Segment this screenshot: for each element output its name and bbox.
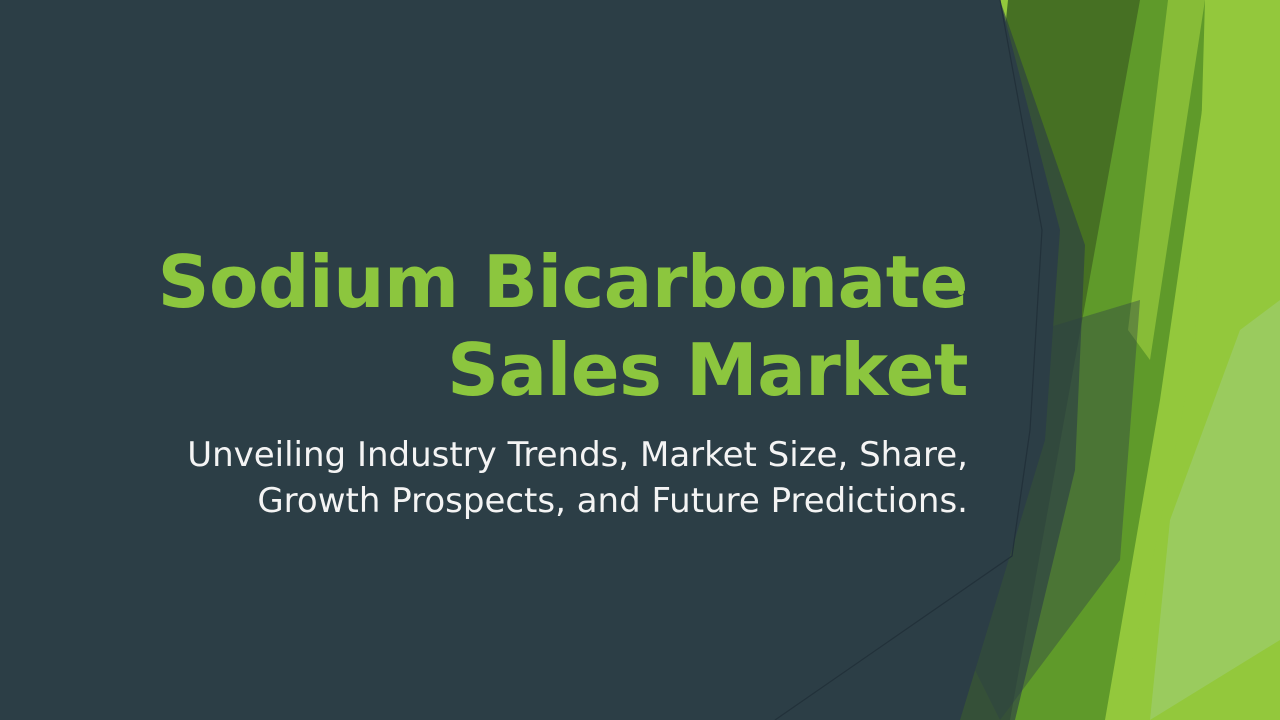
title-line-1: Sodium Bicarbonate: [150, 238, 968, 326]
subtitle-line-2: Growth Prospects, and Future Predictions…: [150, 478, 968, 524]
slide-title: Sodium Bicarbonate Sales Market: [150, 238, 968, 414]
slide-text-block: Sodium Bicarbonate Sales Market Unveilin…: [150, 238, 968, 524]
title-slide: Sodium Bicarbonate Sales Market Unveilin…: [0, 0, 1280, 720]
slide-subtitle: Unveiling Industry Trends, Market Size, …: [150, 432, 968, 524]
subtitle-line-1: Unveiling Industry Trends, Market Size, …: [150, 432, 968, 478]
title-line-2: Sales Market: [150, 326, 968, 414]
